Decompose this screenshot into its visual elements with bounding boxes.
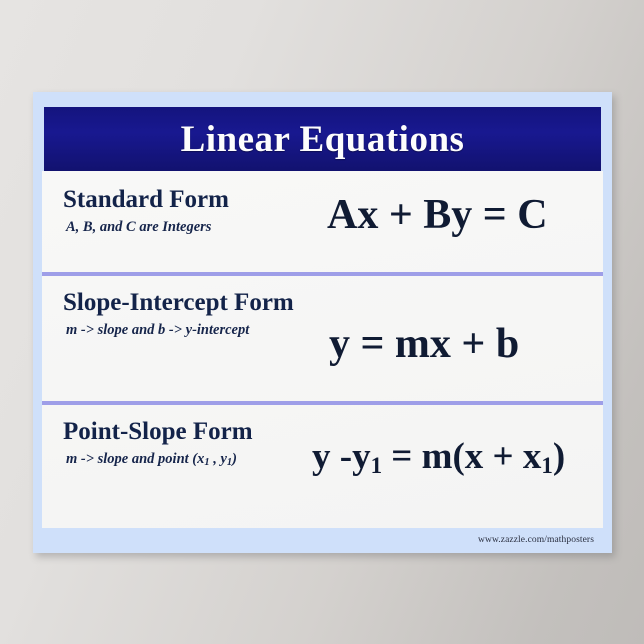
equation-point-slope-form: y -y1 = m(x + x1) xyxy=(312,438,565,475)
section-heading-slope-intercept-form: Slope-Intercept Form xyxy=(63,290,294,315)
subtitle-subscript-x1: 1 xyxy=(204,457,209,468)
equation-subscript-y1: 1 xyxy=(371,453,382,478)
equation-part-mid: = m(x + x xyxy=(382,436,541,477)
equation-slope-intercept-form: y = mx + b xyxy=(329,323,519,365)
section-subtitle-point-slope-form: m -> slope and point (x1 , y1) xyxy=(66,452,237,467)
subtitle-part-mid: , y xyxy=(210,451,227,467)
poster-title: Linear Equations xyxy=(181,121,465,158)
equation-part-pre: y -y xyxy=(312,436,371,477)
poster-footer-url: www.zazzle.com/mathposters xyxy=(478,535,594,545)
section-heading-standard-form: Standard Form xyxy=(63,187,229,212)
poster-scene: Linear Equations Standard Form A, B, and… xyxy=(0,0,644,644)
section-standard-form: Standard Form A, B, and C are Integers A… xyxy=(42,171,603,273)
subtitle-part-pre: m -> slope and point (x xyxy=(66,451,204,467)
section-point-slope-form: Point-Slope Form m -> slope and point (x… xyxy=(42,405,603,528)
subtitle-part-post: ) xyxy=(232,451,237,467)
poster-title-bar: Linear Equations xyxy=(44,107,601,171)
section-heading-point-slope-form: Point-Slope Form xyxy=(63,419,253,444)
equation-subscript-x1: 1 xyxy=(541,453,552,478)
section-subtitle-slope-intercept-form: m -> slope and b -> y-intercept xyxy=(66,323,249,338)
equation-standard-form: Ax + By = C xyxy=(327,194,548,236)
section-slope-intercept-form: Slope-Intercept Form m -> slope and b ->… xyxy=(42,276,603,402)
poster-content-panel: Standard Form A, B, and C are Integers A… xyxy=(42,171,603,528)
equation-part-post: ) xyxy=(553,436,565,477)
section-subtitle-standard-form: A, B, and C are Integers xyxy=(66,220,211,235)
poster-frame: Linear Equations Standard Form A, B, and… xyxy=(33,92,612,553)
subtitle-subscript-y1: 1 xyxy=(227,457,232,468)
